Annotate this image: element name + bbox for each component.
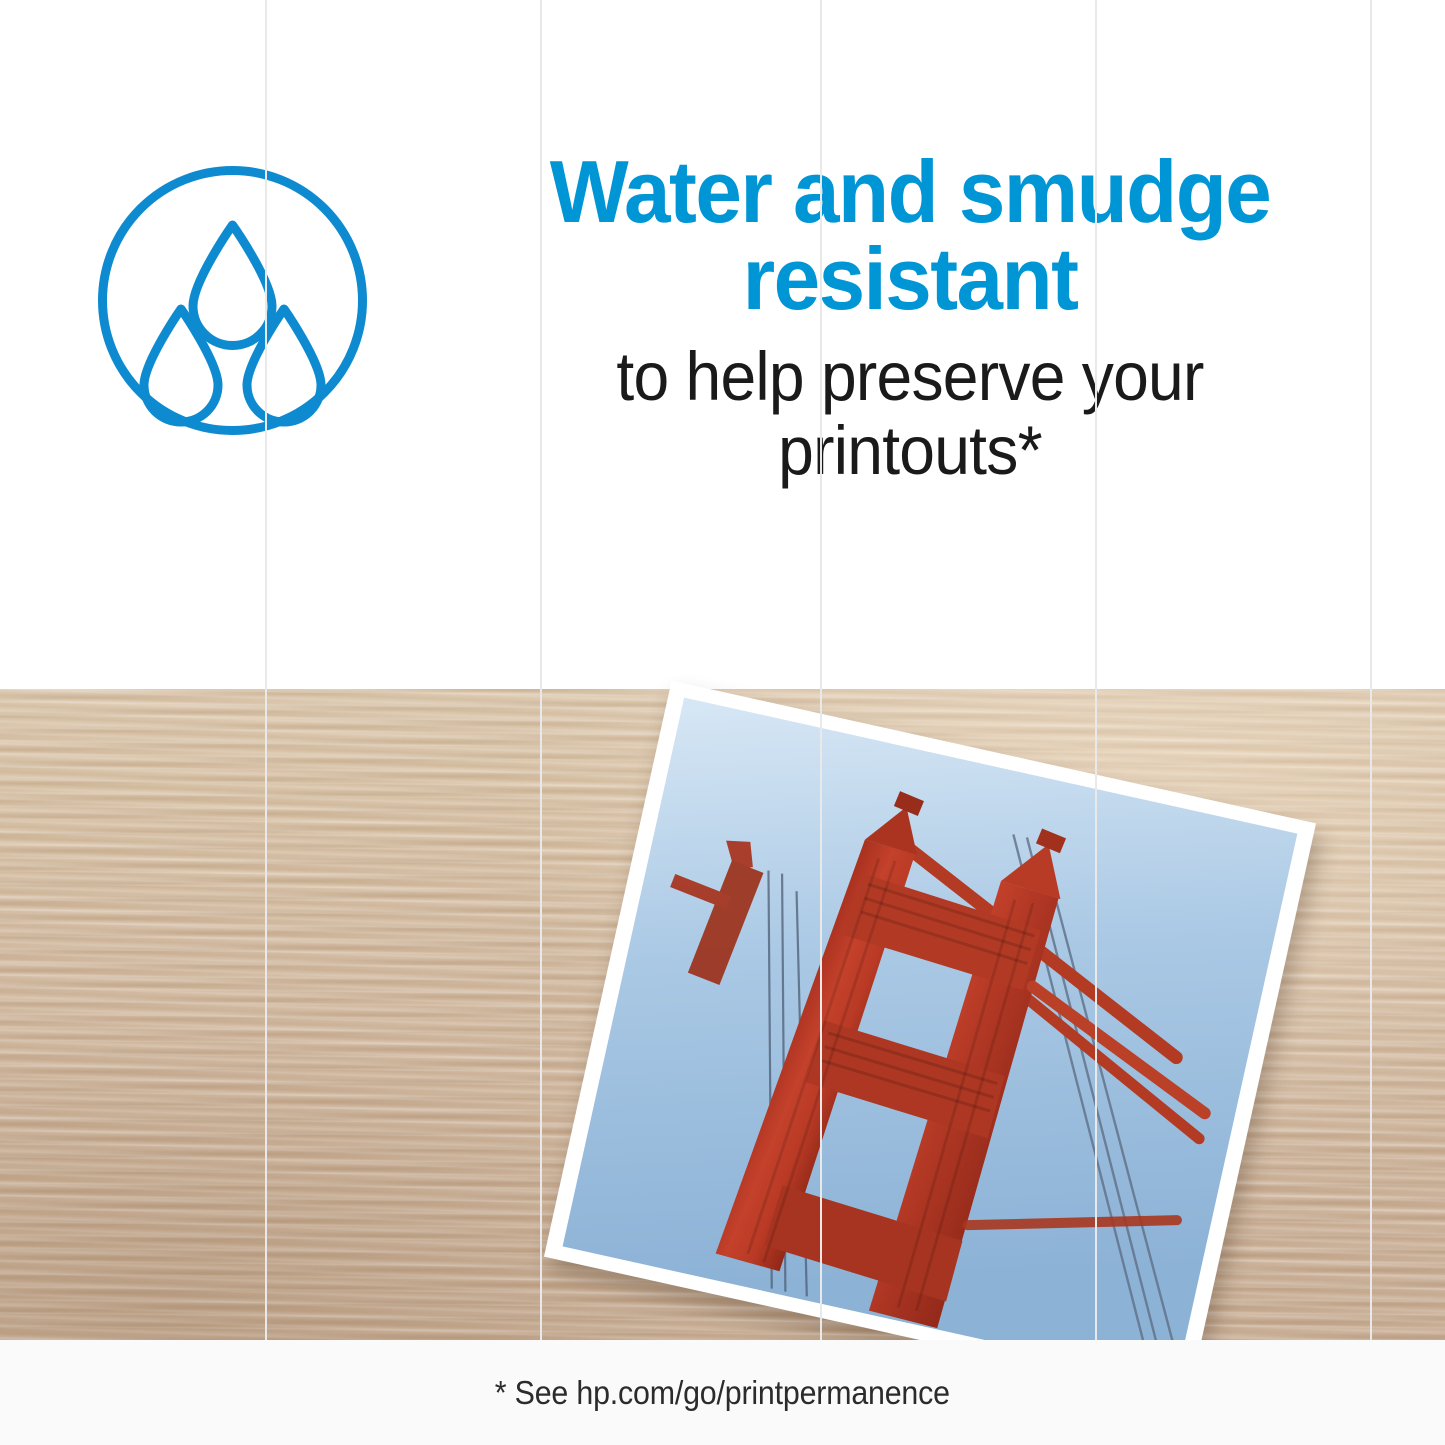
footer-bar: * See hp.com/go/printpermanence — [0, 1340, 1445, 1445]
page-title: Water and smudge resistant — [454, 148, 1366, 322]
promo-banner: Water and smudge resistant to help prese… — [0, 0, 1445, 1445]
footnote-text: * See hp.com/go/printpermanence — [495, 1374, 950, 1412]
headline-block: Water and smudge resistant to help prese… — [430, 148, 1390, 488]
subheadline-line-2: printouts* — [464, 414, 1357, 488]
golden-gate-tower-illustration — [563, 698, 1298, 1383]
subheadline-line-1: to help preserve your — [464, 340, 1357, 414]
water-droplets-circle-icon — [95, 163, 370, 438]
headline-line-1: Water and smudge — [454, 148, 1366, 235]
page-subtitle: to help preserve your printouts* — [464, 340, 1357, 488]
hero-section: Water and smudge resistant to help prese… — [0, 0, 1445, 689]
golden-gate-photo-content — [563, 698, 1298, 1383]
headline-line-2: resistant — [454, 235, 1366, 322]
